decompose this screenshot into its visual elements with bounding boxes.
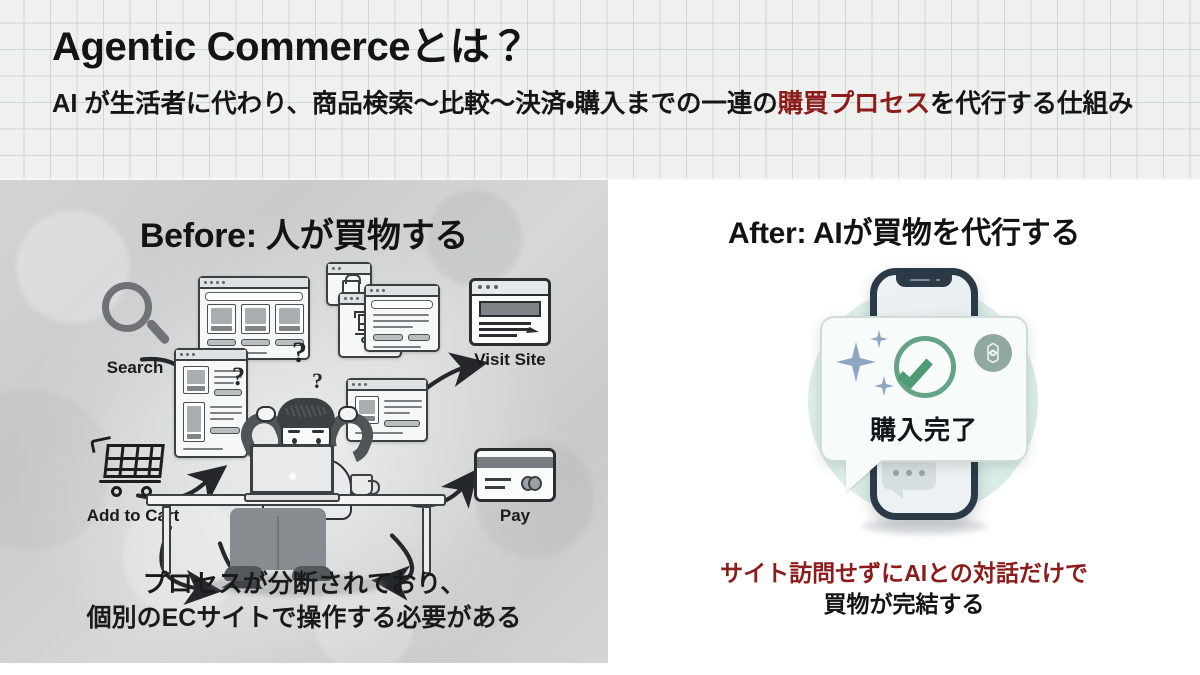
ec-site-cluster: ? ? ? xyxy=(168,262,440,592)
sparkle-icon xyxy=(836,342,876,382)
magnifier-icon xyxy=(98,280,172,354)
subtitle-part-1: AI が生活者に代わり、商品検索～比較～決済・購入までの一連の xyxy=(52,90,778,118)
openai-logo-icon xyxy=(974,334,1012,372)
node-visit-site: Visit Site xyxy=(440,278,580,370)
sparkle-tiny-icon xyxy=(874,376,894,396)
subtitle-highlight: 購買プロセス xyxy=(778,90,930,118)
after-caption-line-2: 買物が完結する xyxy=(608,589,1200,620)
after-panel: After: AIが買物を代行する xyxy=(608,180,1200,675)
purchase-complete-card: 購入完了 xyxy=(820,316,1028,462)
coffee-mug-icon xyxy=(350,474,373,496)
credit-card-icon xyxy=(474,448,556,502)
after-caption-line-1: サイト訪問せずにAIとの対話だけで xyxy=(608,558,1200,589)
before-caption-line-2: 個別のECサイトで操作する必要がある xyxy=(0,601,608,635)
question-mark-2: ? xyxy=(232,362,245,392)
slide-root: Agentic Commerceとは？ AI が生活者に代わり、商品検索～比較～… xyxy=(0,0,1200,675)
desk-leg-left xyxy=(162,506,171,574)
subtitle-part-2: を代行する仕組み xyxy=(930,90,1133,118)
desk-leg-right xyxy=(422,506,431,574)
sparkle-small-icon xyxy=(870,330,888,348)
laptop-icon xyxy=(244,444,340,502)
before-illustration: Search Visit Site xyxy=(0,258,608,618)
purchase-complete-label: 購入完了 xyxy=(822,410,1026,447)
browser-window-icon xyxy=(469,278,551,346)
before-panel: Before: 人が買物する xyxy=(0,180,608,663)
node-pay: Pay xyxy=(450,448,580,526)
phone-shadow xyxy=(862,518,988,534)
page-title: Agentic Commerceとは？ xyxy=(52,24,529,70)
person-legs xyxy=(230,508,326,570)
before-caption: プロセスが分断されており、 個別のECサイトで操作する必要がある xyxy=(0,567,608,635)
before-panel-title: Before: 人が買物する xyxy=(0,208,608,257)
ec-window-article-top xyxy=(364,284,440,352)
page-subtitle: AI が生活者に代わり、商品検索～比較～決済・購入までの一連の購買プロセスを代行… xyxy=(52,88,1162,122)
shopping-cart-icon xyxy=(89,438,177,502)
phone-notch xyxy=(896,274,952,287)
slide-header: Agentic Commerceとは？ AI が生活者に代わり、商品検索～比較～… xyxy=(0,0,1200,180)
question-mark-1: ? xyxy=(292,336,307,370)
after-panel-title: After: AIが買物を代行する xyxy=(608,208,1200,252)
after-caption: サイト訪問せずにAIとの対話だけで 買物が完結する xyxy=(608,558,1200,620)
before-caption-line-1: プロセスが分断されており、 xyxy=(0,567,608,601)
node-visit-site-label: Visit Site xyxy=(440,350,580,370)
node-pay-label: Pay xyxy=(450,506,580,526)
